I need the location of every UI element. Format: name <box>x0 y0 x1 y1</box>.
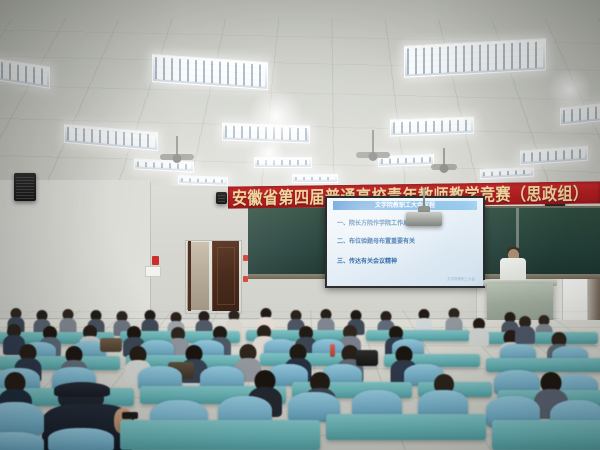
audience-person <box>416 309 432 331</box>
student-desk <box>326 414 486 440</box>
student-chair <box>0 432 44 450</box>
student-desk <box>120 420 320 450</box>
ceiling <box>0 0 600 196</box>
student-desk <box>486 358 600 372</box>
student-chair <box>0 402 44 436</box>
wall-speaker <box>216 192 227 204</box>
audience-person <box>446 308 462 330</box>
student-desk <box>366 330 470 341</box>
water-bottle <box>330 344 335 357</box>
wall-speaker <box>14 173 36 201</box>
slide-content: 文学院教职工大会议程 一、院长方院作学院工作总结 二、布位验题母布置重要有关 三… <box>327 198 483 286</box>
audience-person <box>516 316 534 340</box>
entrance-door[interactable] <box>212 241 239 311</box>
audience-person <box>470 318 488 342</box>
handbag <box>356 350 378 366</box>
audience-person <box>142 310 158 332</box>
ceiling-shading <box>0 0 600 196</box>
baseball-cap <box>54 382 110 397</box>
handbag <box>100 338 122 352</box>
screen-glare <box>327 198 483 286</box>
projection-screen: 文学院教职工大会议程 一、院长方院作学院工作总结 二、布位验题母布置重要有关 三… <box>325 196 485 288</box>
audience-person <box>318 309 334 331</box>
door-bar <box>188 241 191 311</box>
mobile-phone <box>122 412 138 419</box>
student-desk <box>492 420 600 450</box>
fire-safety-sign <box>152 256 159 265</box>
student-chair <box>48 428 114 450</box>
ceiling-mounted-projector <box>406 212 442 226</box>
wall-notice <box>145 266 161 277</box>
audience-person <box>60 309 76 331</box>
lecture-hall-photo: 安徽省第四届普通高校青年教师教学竞赛（思政组） 文学院教职工大会议程 一、院长方… <box>0 0 600 450</box>
